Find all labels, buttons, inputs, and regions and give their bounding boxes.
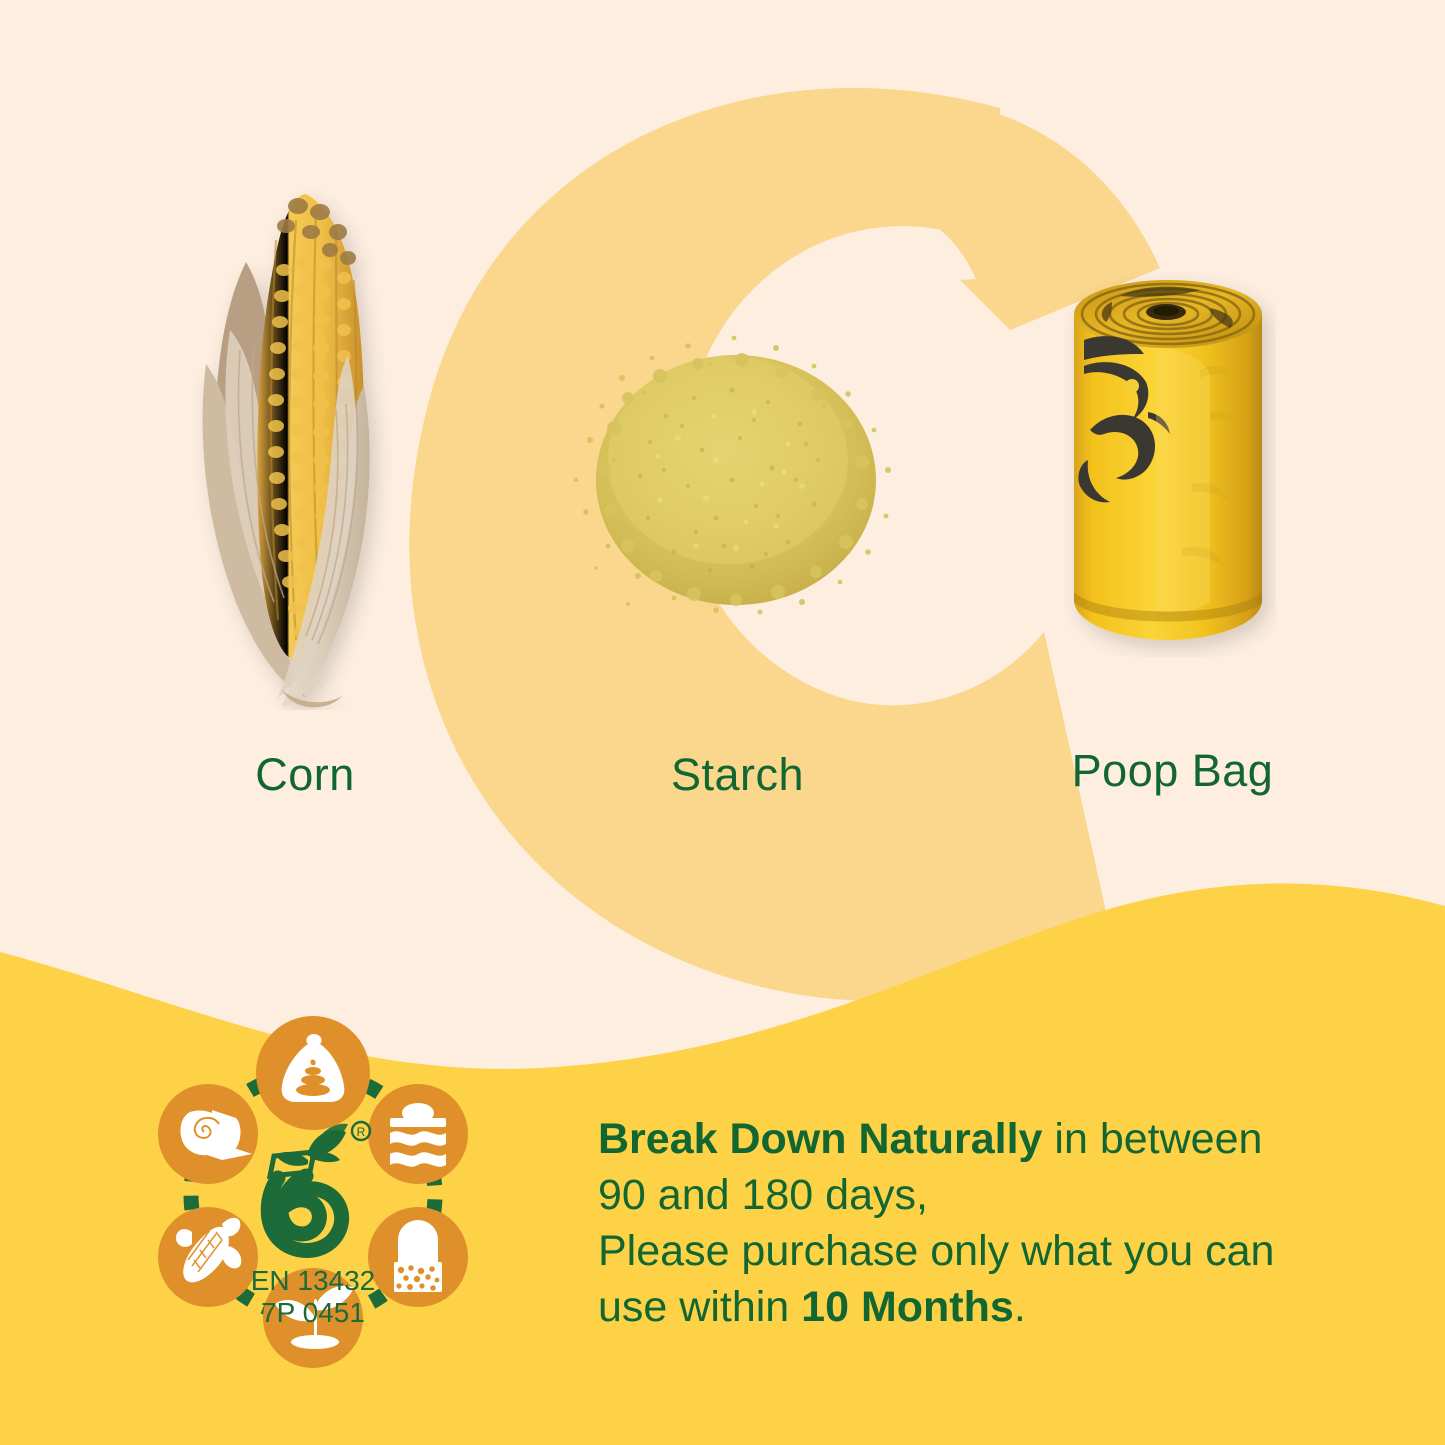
- breakdown-claim-text: Break Down Naturally in between 90 and 1…: [598, 1112, 1388, 1336]
- poop-bag-roll-photo: [1060, 262, 1276, 657]
- claim-bold-ten-months: 10 Months: [801, 1283, 1014, 1331]
- product-infographic: Corn Starch Poop Bag: [0, 0, 1445, 1445]
- label-starch: Starch: [610, 752, 865, 797]
- corn-starch-powder-photo: [556, 320, 916, 620]
- claim-line-3: Please purchase only what you can: [598, 1224, 1388, 1280]
- bag-roll-icon: [158, 1084, 258, 1184]
- claim-bold-break-down: Break Down Naturally: [598, 1115, 1042, 1163]
- claim-line-2: 90 and 180 days,: [598, 1168, 1388, 1224]
- registered-mark-icon: R: [352, 1122, 370, 1140]
- bag-degrading-in-soil-icon: [368, 1207, 468, 1307]
- certification-standard-line2: 7P 0451: [261, 1297, 365, 1328]
- svg-text:R: R: [357, 1125, 366, 1139]
- compost-layers-icon: [368, 1084, 468, 1184]
- label-corn: Corn: [180, 752, 430, 797]
- corn-cob-photo: [178, 150, 428, 710]
- certification-standard-line1: EN 13432: [251, 1265, 376, 1296]
- claim-line-1: Break Down Naturally in between: [598, 1112, 1388, 1168]
- seedling-compostable-logo: R EN 13432 7P 0451: [251, 1122, 376, 1328]
- compostable-certification-badge: R EN 13432 7P 0451: [118, 1000, 508, 1390]
- claim-line4-suffix: .: [1014, 1283, 1026, 1331]
- product-row: [0, 0, 1445, 740]
- poop-bag-icon: [256, 1016, 370, 1130]
- claim-line1-rest: in between: [1042, 1115, 1262, 1163]
- label-poop-bag: Poop Bag: [1040, 748, 1305, 793]
- claim-line4-prefix: use within: [598, 1283, 801, 1331]
- claim-line-4: use within 10 Months.: [598, 1280, 1388, 1336]
- corn-cob-icon: [158, 1207, 258, 1307]
